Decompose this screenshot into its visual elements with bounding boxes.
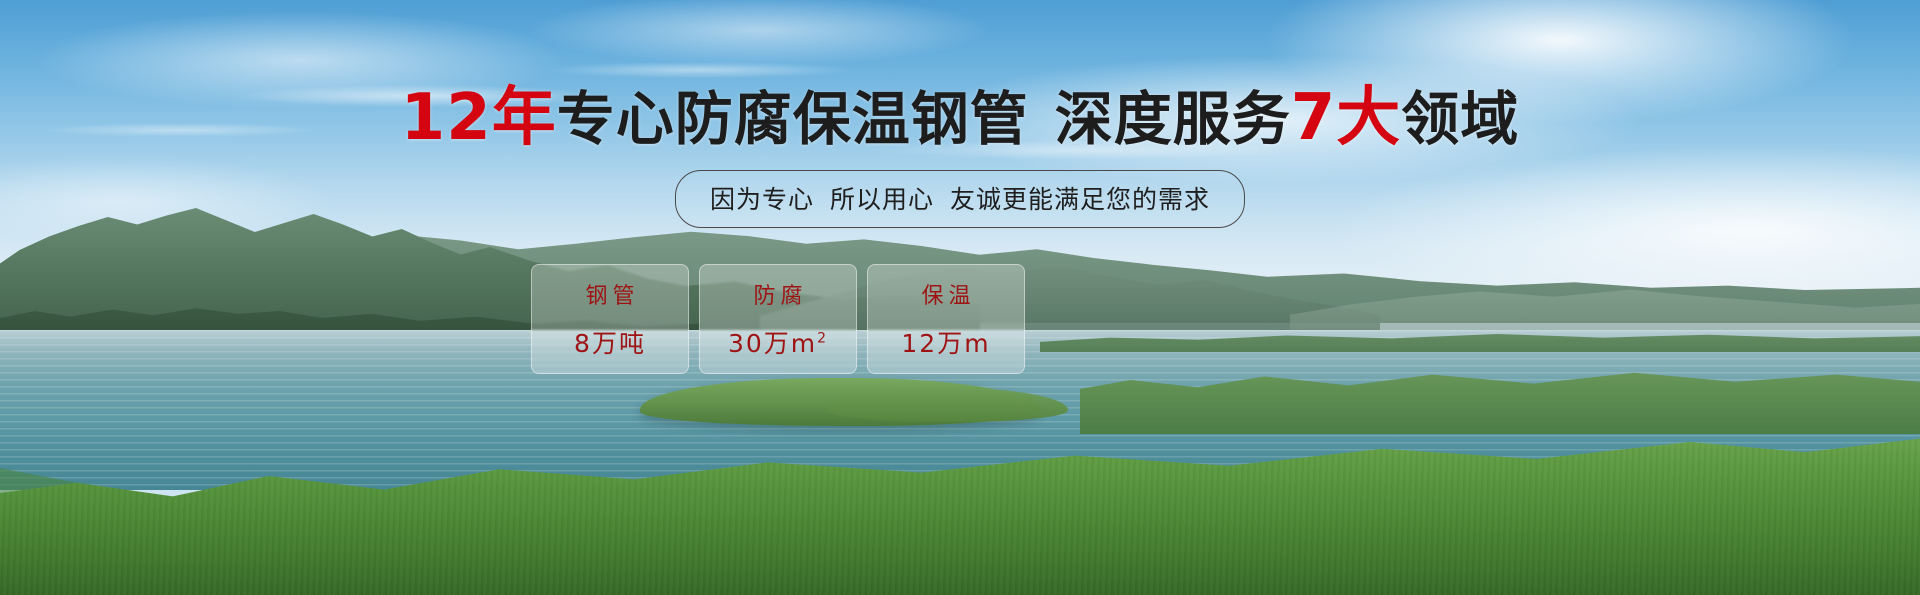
banner-headline: 12年专心防腐保温钢管深度服务7大领域 xyxy=(0,86,1920,151)
headline-years: 12年 xyxy=(401,81,557,155)
stat-value-text: 12万m xyxy=(901,329,990,358)
stat-card-insulation: 保温 12万m xyxy=(867,264,1025,374)
subtitle-segment-2: 所以用心 xyxy=(830,185,934,214)
headline-fields-text: 领域 xyxy=(1401,85,1519,153)
stat-card-anticorrosion: 防腐 30万m2 xyxy=(699,264,857,374)
stat-card-steel-pipe: 钢管 8万吨 xyxy=(531,264,689,374)
headline-fields-count: 7大 xyxy=(1291,81,1402,155)
subtitle-pill: 因为专心所以用心友诚更能满足您的需求 xyxy=(675,170,1245,228)
stat-label: 防腐 xyxy=(748,278,807,310)
stat-value: 12万m xyxy=(901,324,990,360)
stat-value: 8万吨 xyxy=(574,324,646,360)
stat-value-text: 30万m xyxy=(728,329,817,358)
stat-value: 30万m2 xyxy=(728,324,828,360)
headline-service-text: 深度服务 xyxy=(1055,85,1291,153)
stat-label: 保温 xyxy=(916,278,975,310)
stats-group: 钢管 8万吨 防腐 30万m2 保温 12万m xyxy=(531,264,1025,374)
hero-banner: 12年专心防腐保温钢管深度服务7大领域 因为专心所以用心友诚更能满足您的需求 钢… xyxy=(0,0,1920,595)
stat-value-superscript: 2 xyxy=(817,331,828,347)
subtitle-segment-1: 因为专心 xyxy=(710,185,814,214)
headline-main-text: 专心防腐保温钢管 xyxy=(557,85,1029,153)
subtitle-segment-3: 友诚更能满足您的需求 xyxy=(950,185,1210,214)
stat-value-text: 8万吨 xyxy=(574,329,646,358)
banner-content: 12年专心防腐保温钢管深度服务7大领域 因为专心所以用心友诚更能满足您的需求 钢… xyxy=(0,0,1920,595)
stat-label: 钢管 xyxy=(580,278,639,310)
